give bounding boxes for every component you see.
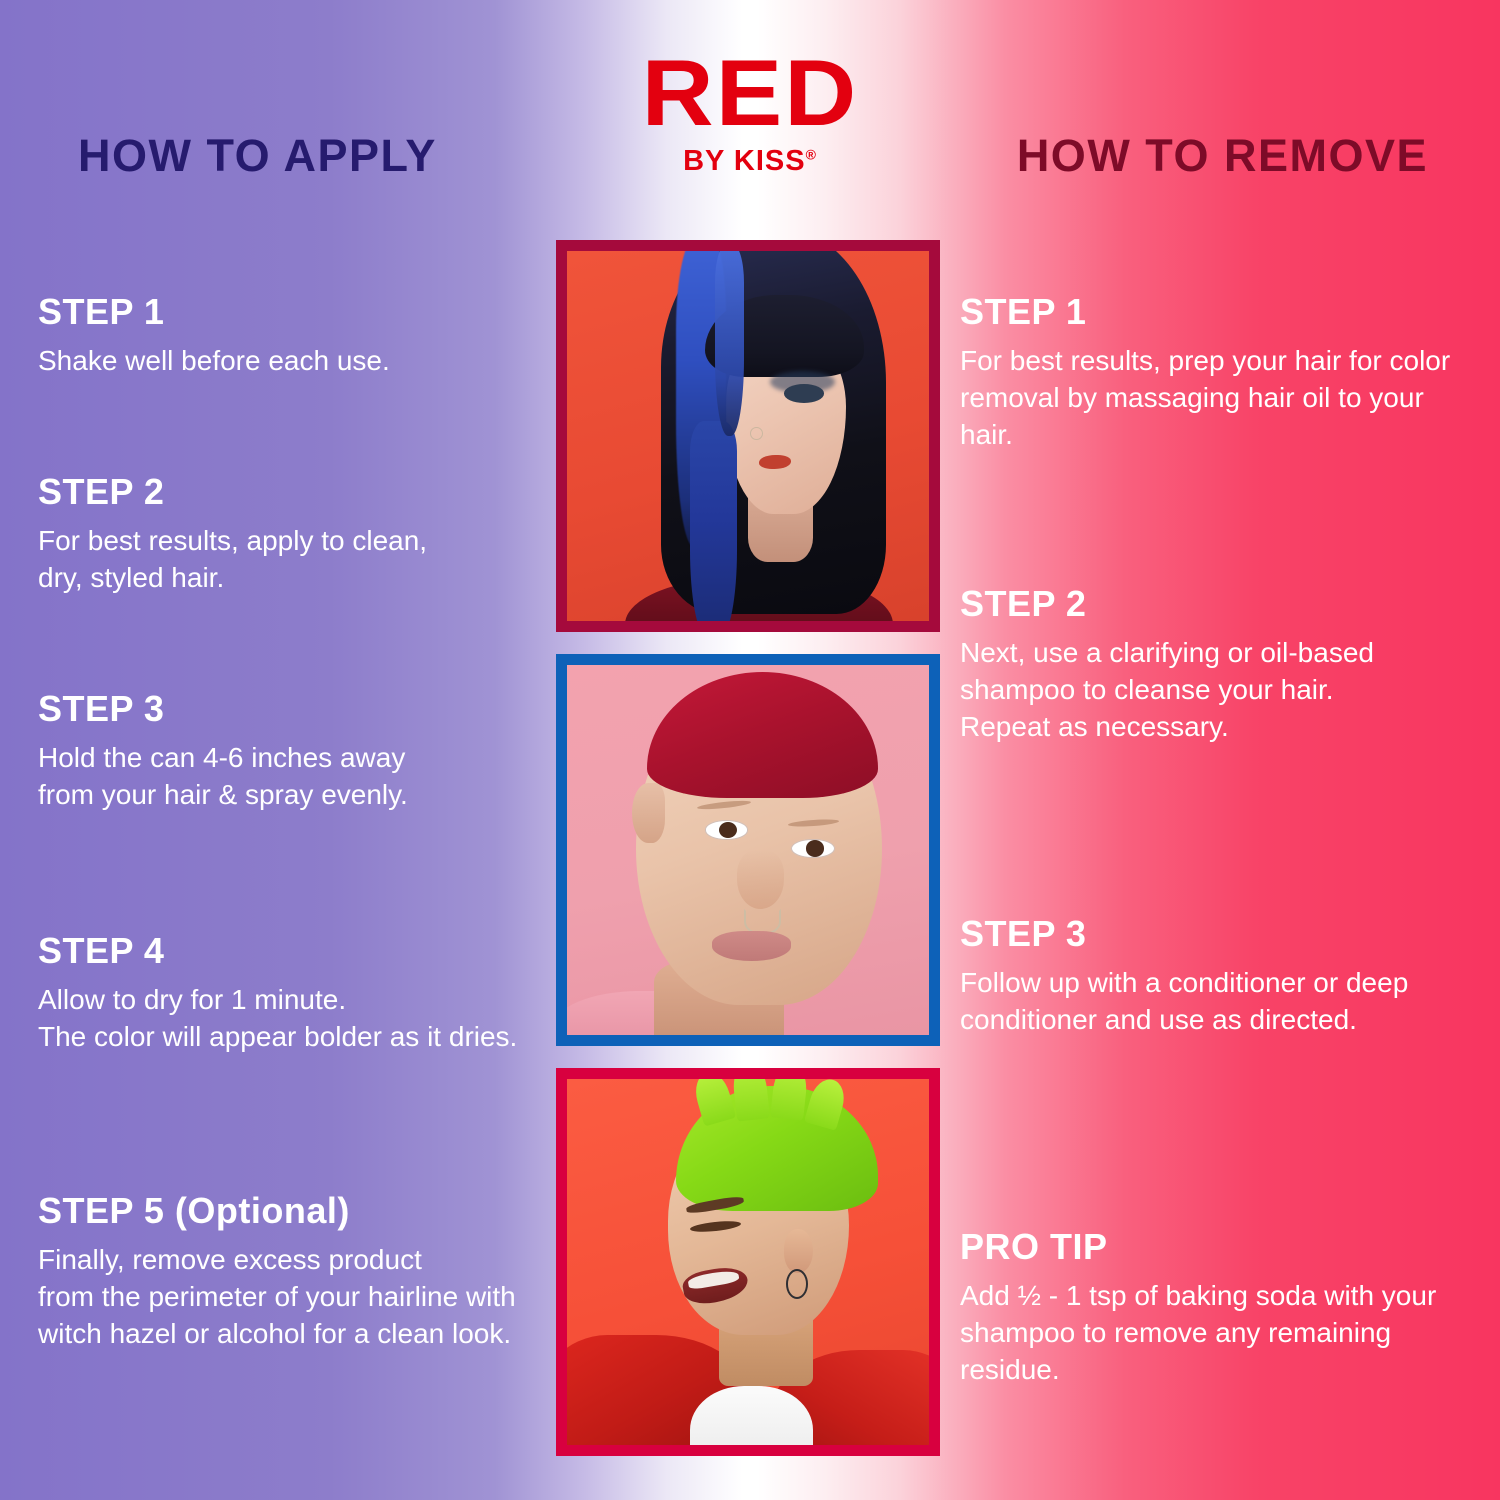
remove-step-1: STEP 1 For best results, prep your hair …: [960, 293, 1480, 454]
apply-step-2: STEP 2 For best results, apply to clean,…: [38, 473, 538, 597]
apply-step-1: STEP 1 Shake well before each use.: [38, 293, 538, 380]
remove-pro-tip-title: PRO TIP: [960, 1228, 1480, 1266]
remove-step-3: STEP 3 Follow up with a conditioner or d…: [960, 915, 1480, 1039]
remove-step-1-title: STEP 1: [960, 293, 1480, 331]
photo3-hair-spike-2: [731, 1079, 770, 1121]
photo-frame-model-green-spiky-hair: [556, 1068, 940, 1456]
photo1-eye: [784, 384, 824, 403]
photo-model-blue-black-hair: [567, 251, 929, 621]
apply-step-2-body: For best results, apply to clean, dry, s…: [38, 523, 538, 597]
remove-step-2: STEP 2 Next, use a clarifying or oil-bas…: [960, 585, 1480, 746]
photo2-pupil-right: [806, 840, 824, 856]
remove-step-2-body: Next, use a clarifying or oil-based sham…: [960, 635, 1480, 746]
apply-step-4-body: Allow to dry for 1 minute. The color wil…: [38, 982, 538, 1056]
remove-pro-tip: PRO TIP Add ½ - 1 tsp of baking soda wit…: [960, 1228, 1480, 1389]
apply-step-5-title: STEP 5 (Optional): [38, 1192, 558, 1230]
remove-pro-tip-body: Add ½ - 1 tsp of baking soda with your s…: [960, 1278, 1480, 1389]
brand-wordmark: RED: [0, 48, 1500, 137]
apply-step-1-body: Shake well before each use.: [38, 343, 538, 380]
photo1-blue-hair-tail: [690, 421, 737, 621]
photo3-earring: [786, 1269, 808, 1299]
apply-step-1-title: STEP 1: [38, 293, 538, 331]
apply-step-5: STEP 5 (Optional) Finally, remove excess…: [38, 1192, 558, 1353]
photo-frame-model-red-buzzcut: [556, 654, 940, 1046]
apply-step-3-title: STEP 3: [38, 690, 538, 728]
photo2-nose: [737, 850, 784, 909]
poster-root: RED BY KISS® HOW TO APPLY HOW TO REMOVE …: [0, 0, 1500, 1500]
apply-step-3: STEP 3 Hold the can 4-6 inches away from…: [38, 690, 538, 814]
remove-step-1-body: For best results, prep your hair for col…: [960, 343, 1480, 454]
photo3-hair-spike-3: [771, 1079, 809, 1121]
apply-step-3-body: Hold the can 4-6 inches away from your h…: [38, 740, 538, 814]
photo1-blue-streak-right: [715, 251, 744, 436]
heading-how-to-apply: HOW TO APPLY: [78, 130, 437, 182]
photo2-lips: [712, 931, 792, 961]
photo2-ear: [632, 783, 665, 842]
heading-how-to-remove: HOW TO REMOVE: [1017, 130, 1428, 182]
apply-step-2-title: STEP 2: [38, 473, 538, 511]
apply-step-4-title: STEP 4: [38, 932, 538, 970]
remove-step-3-title: STEP 3: [960, 915, 1480, 953]
registered-trademark-icon: ®: [806, 147, 817, 163]
photo-stack: [556, 240, 940, 1456]
remove-step-3-body: Follow up with a conditioner or deep con…: [960, 965, 1480, 1039]
photo1-nose-ring: [750, 427, 763, 440]
photo-model-red-buzzcut: [567, 665, 929, 1035]
photo-frame-model-blue-black-hair: [556, 240, 940, 632]
apply-step-4: STEP 4 Allow to dry for 1 minute. The co…: [38, 932, 538, 1056]
brand-subtitle-text: BY KISS: [683, 145, 806, 177]
photo3-ear: [784, 1229, 813, 1273]
apply-step-5-body: Finally, remove excess product from the …: [38, 1242, 558, 1353]
photo-model-green-spiky-hair: [567, 1079, 929, 1445]
remove-step-2-title: STEP 2: [960, 585, 1480, 623]
photo2-red-hair: [647, 672, 879, 798]
